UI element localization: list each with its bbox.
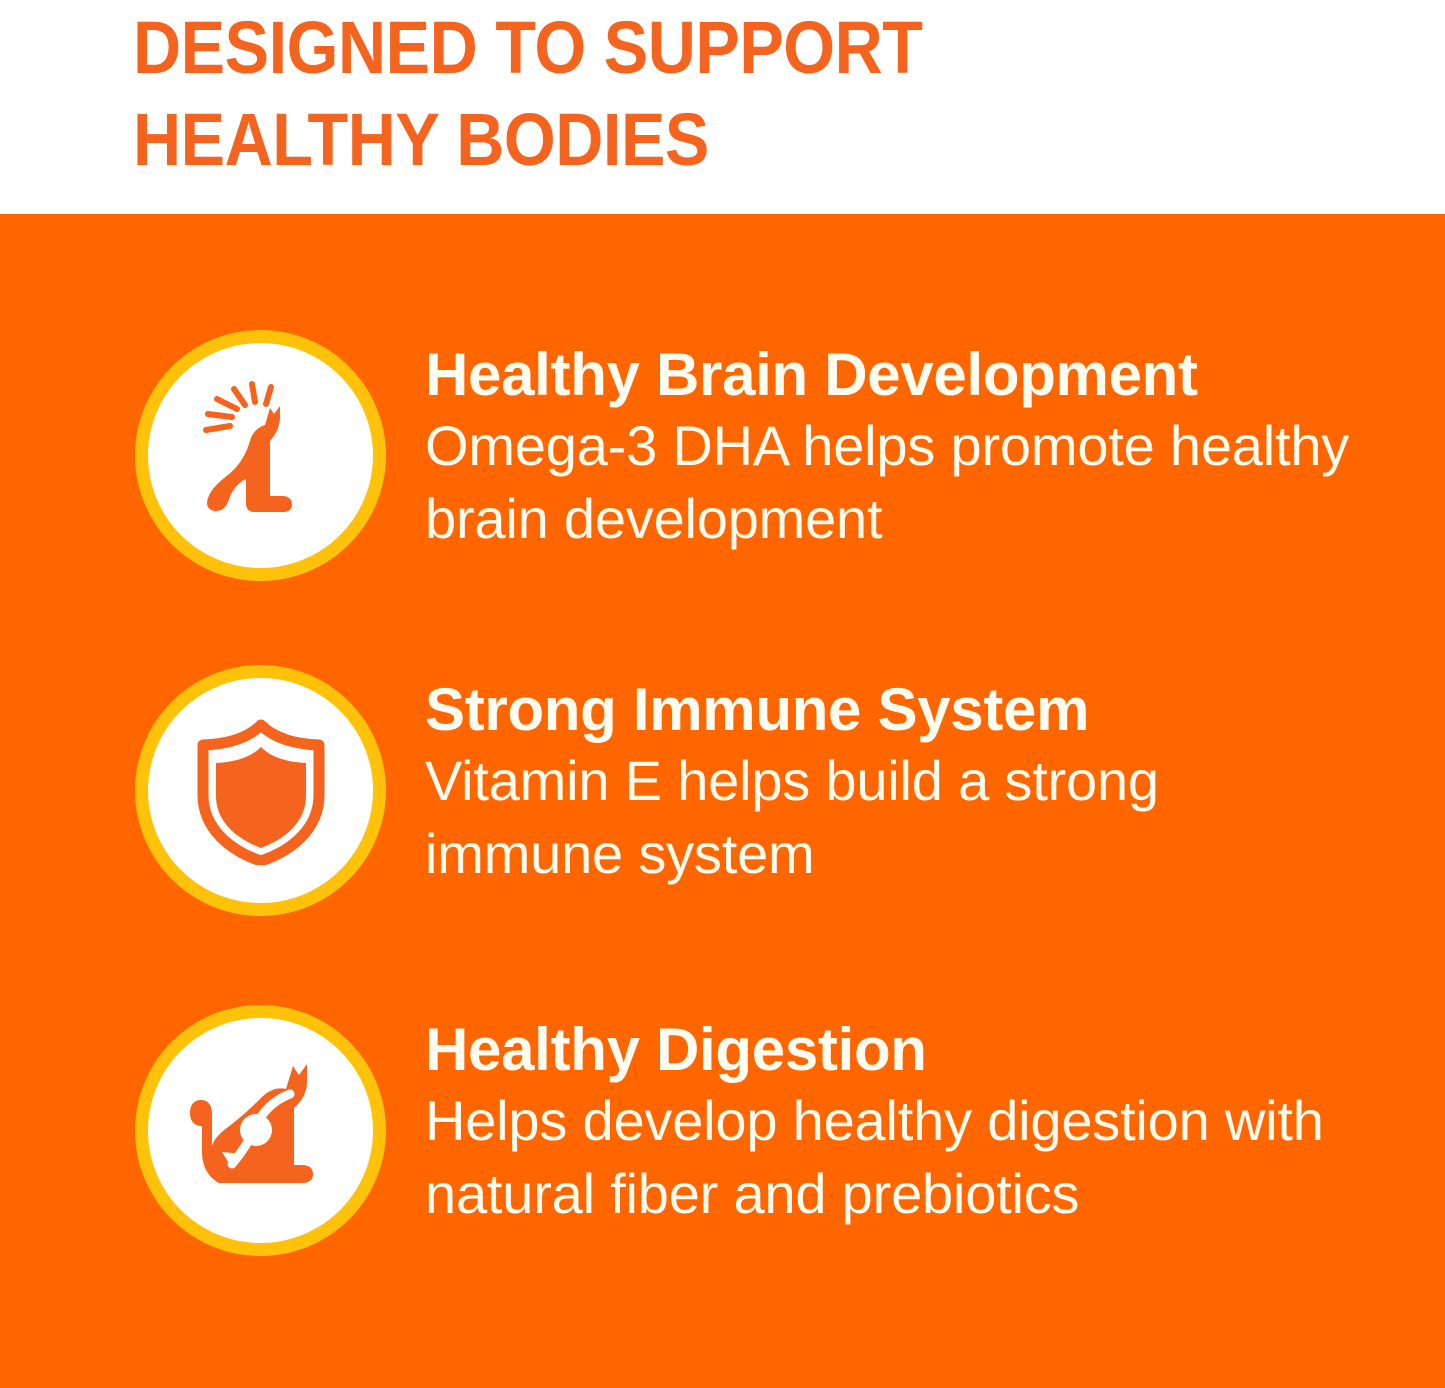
benefits-panel: Healthy Brain Development Omega-3 DHA he… [0, 214, 1445, 1388]
benefit-description: Helps develop healthy digestion with nat… [425, 1085, 1365, 1231]
benefit-row: Strong Immune System Vitamin E helps bui… [0, 665, 1445, 916]
benefit-description: Omega-3 DHA helps promote healthy brain … [425, 410, 1365, 556]
benefit-icon-badge [135, 330, 386, 581]
header-band: DESIGNED TO SUPPORT HEALTHY BODIES [0, 0, 1445, 214]
benefit-title: Healthy Brain Development [425, 344, 1385, 406]
benefit-title: Strong Immune System [425, 679, 1385, 741]
benefit-description: Vitamin E helps build a strong immune sy… [425, 745, 1365, 891]
benefit-icon-badge [135, 665, 386, 916]
shield-icon [187, 717, 335, 865]
page-title: DESIGNED TO SUPPORT HEALTHY BODIES [133, 2, 1123, 186]
benefit-title: Healthy Digestion [425, 1019, 1385, 1081]
benefit-text-block: Healthy Brain Development Omega-3 DHA he… [425, 330, 1385, 556]
benefit-icon-badge [135, 1005, 386, 1256]
benefits-infographic: DESIGNED TO SUPPORT HEALTHY BODIES [0, 0, 1445, 1388]
benefit-text-block: Healthy Digestion Helps develop healthy … [425, 1005, 1385, 1231]
benefit-text-block: Strong Immune System Vitamin E helps bui… [425, 665, 1385, 891]
cat-brain-rays-icon [186, 381, 336, 531]
benefit-row: Healthy Brain Development Omega-3 DHA he… [0, 330, 1445, 581]
cat-digestion-icon [182, 1056, 340, 1206]
benefit-row: Healthy Digestion Helps develop healthy … [0, 1005, 1445, 1256]
